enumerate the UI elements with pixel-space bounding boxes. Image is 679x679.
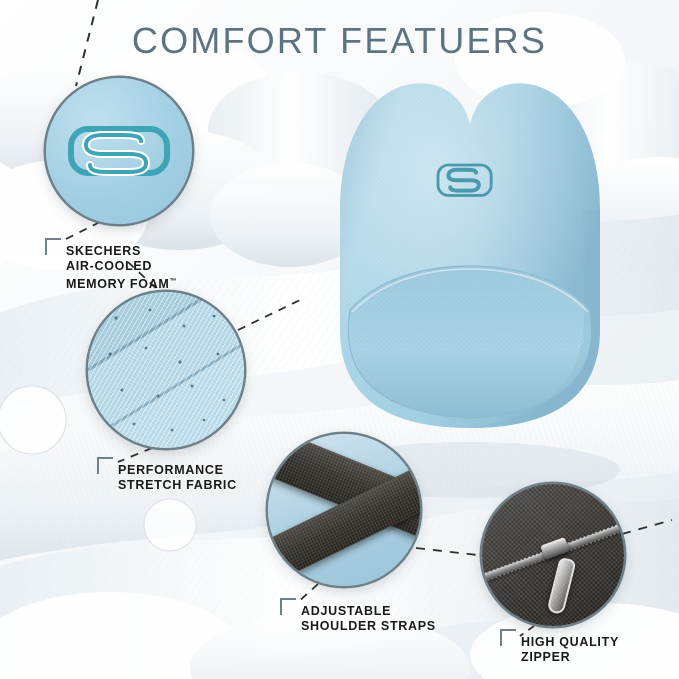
fabric-weave-texture <box>88 292 244 448</box>
callout-stretch-fabric[interactable] <box>88 292 244 448</box>
feature-label-line-1: PERFORMANCE <box>118 463 237 478</box>
feature-label-line-2: ZIPPER <box>521 650 619 665</box>
feature-label-line-3-wrap: MEMORY FOAM™ <box>66 274 177 292</box>
callout-skechers-logo[interactable] <box>46 78 192 224</box>
page-title: COMFORT FEATUERS <box>0 20 679 62</box>
lumbar-cushion-product <box>300 60 640 480</box>
feature-label-line-2: AIR-COOLED <box>66 259 177 274</box>
callout-zipper[interactable] <box>482 484 624 626</box>
feature-label-memory-foam: SKECHERS AIR-COOLED MEMORY FOAM™ <box>66 244 177 292</box>
skechers-s-logo-icon <box>67 121 171 181</box>
feature-label-zipper: HIGH QUALITY ZIPPER <box>521 635 619 665</box>
feature-label-shoulder-straps: ADJUSTABLE SHOULDER STRAPS <box>301 604 436 634</box>
feature-label-line-2: SHOULDER STRAPS <box>301 619 436 634</box>
feature-label-line-1: ADJUSTABLE <box>301 604 436 619</box>
zipper-slider <box>540 537 570 560</box>
zipper-fabric-texture <box>482 484 624 626</box>
callout-shoulder-straps[interactable] <box>268 434 420 586</box>
bracket-marker-icon <box>280 598 296 615</box>
strap-backdrop <box>268 434 420 586</box>
bracket-marker-icon <box>45 238 61 255</box>
feature-label-line-3: MEMORY FOAM <box>66 277 170 291</box>
feature-label-line-2: STRETCH FABRIC <box>118 478 237 493</box>
product-feature-infographic: COMFORT FEATUERS <box>0 0 679 679</box>
feature-label-line-1: SKECHERS <box>66 244 177 259</box>
trademark-symbol: ™ <box>170 278 178 285</box>
zipper-pull-tab <box>546 557 576 615</box>
bracket-marker-icon <box>97 457 113 474</box>
feature-label-line-1: HIGH QUALITY <box>521 635 619 650</box>
feature-label-stretch-fabric: PERFORMANCE STRETCH FABRIC <box>118 463 237 493</box>
bracket-marker-icon <box>500 629 516 646</box>
